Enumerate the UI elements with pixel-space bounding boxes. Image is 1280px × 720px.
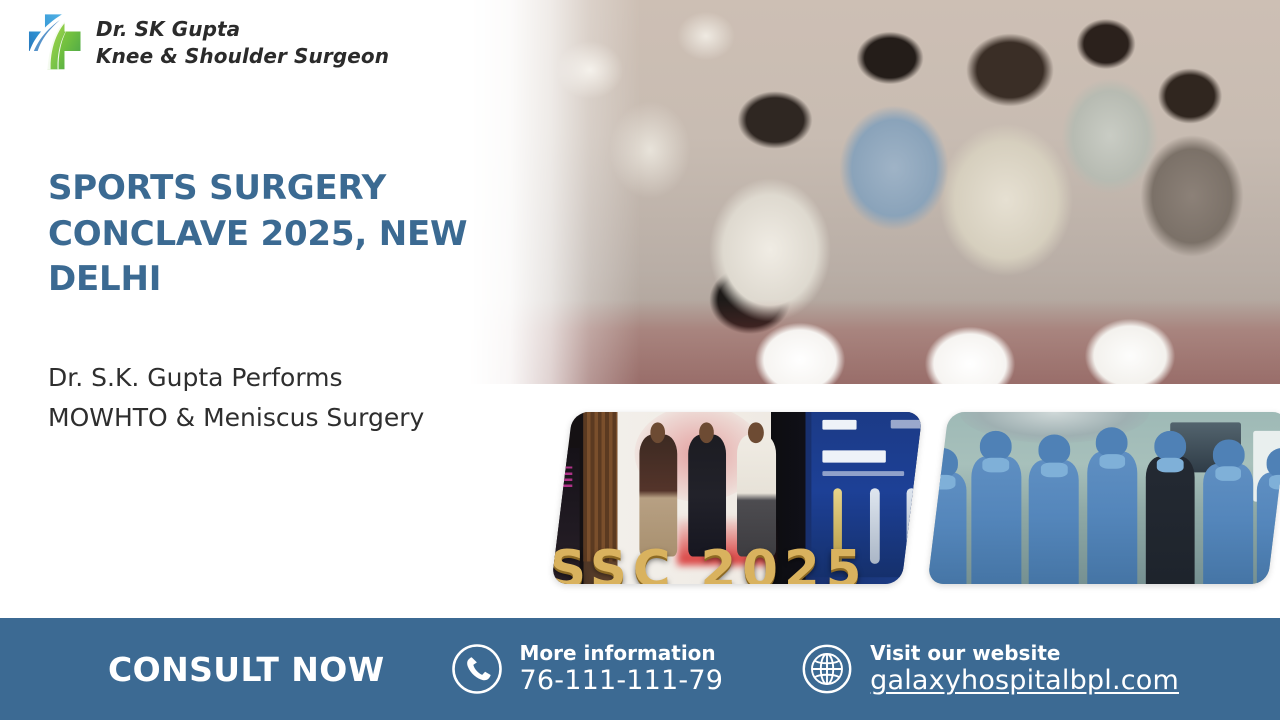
or-surgeon-5	[1145, 456, 1195, 584]
or-surgeon-4	[1087, 452, 1137, 584]
or-mask-2	[983, 458, 1010, 473]
or-cap-3	[1038, 435, 1070, 464]
phone-contact-block[interactable]: More information 76-111-111-79	[451, 642, 724, 697]
or-surgeon-1	[927, 473, 967, 584]
or-surgeon-2	[971, 456, 1021, 584]
or-mask-4	[1099, 454, 1126, 469]
website-url[interactable]: galaxyhospitalbpl.com	[870, 665, 1179, 696]
or-mask-1	[929, 475, 956, 490]
page-subtitle: Dr. S.K. Gupta Performs MOWHTO & Meniscu…	[48, 358, 468, 437]
or-cap-4	[1096, 427, 1128, 456]
or-cap-1	[927, 448, 957, 477]
brand-name-line-2: Knee & Shoulder Surgeon	[96, 44, 389, 68]
or-mask-6	[1215, 467, 1242, 482]
website-contact-text: Visit our website galaxyhospitalbpl.com	[870, 642, 1179, 697]
website-contact-block[interactable]: Visit our website galaxyhospitalbpl.com	[801, 642, 1179, 697]
thumbnail-ssc-2025-image: SSC 2025	[551, 412, 922, 584]
or-mask-7	[1269, 475, 1280, 490]
brand-name-line-1: Dr. SK Gupta	[96, 17, 240, 41]
consult-now-cta[interactable]: CONSULT NOW	[108, 650, 385, 689]
hero-conference-photo	[470, 0, 1280, 384]
or-mask-3	[1041, 462, 1068, 477]
phone-icon	[451, 643, 503, 695]
medical-cross-leaf-logo-icon	[24, 12, 82, 74]
brand-logo-block: Dr. SK Gupta Knee & Shoulder Surgeon	[24, 12, 389, 74]
phone-label: More information	[520, 641, 716, 665]
or-cap-5	[1154, 431, 1186, 460]
phone-number[interactable]: 76-111-111-79	[520, 665, 724, 696]
or-mask-5	[1157, 458, 1184, 473]
thumbnail-operating-theatre	[927, 412, 1280, 584]
photo-thumbnail-row: SSC 2025	[540, 404, 1280, 600]
website-label: Visit our website	[870, 641, 1060, 665]
globe-icon	[801, 643, 853, 695]
phone-contact-text: More information 76-111-111-79	[520, 642, 724, 697]
promotional-poster: Dr. SK Gupta Knee & Shoulder Surgeon Spo…	[0, 0, 1280, 720]
or-cap-6	[1213, 439, 1245, 468]
contact-footer-bar: CONSULT NOW More information 76-111-111-…	[0, 618, 1280, 720]
or-surgeon-7	[1257, 473, 1280, 584]
brand-name: Dr. SK Gupta Knee & Shoulder Surgeon	[96, 16, 389, 70]
ssc-head-right	[748, 422, 763, 443]
or-surgeon-6	[1203, 464, 1253, 584]
ssc-2025-letters: SSC 2025	[551, 539, 899, 584]
or-cap-2	[980, 431, 1012, 460]
hero-photo-chairs	[470, 264, 1280, 384]
thumbnail-operating-theatre-image	[927, 412, 1280, 584]
or-surgeon-3	[1029, 460, 1079, 584]
page-title: Sports Surgery Conclave 2025, New Delhi	[48, 166, 528, 303]
thumbnail-ssc-2025: SSC 2025	[551, 412, 922, 584]
